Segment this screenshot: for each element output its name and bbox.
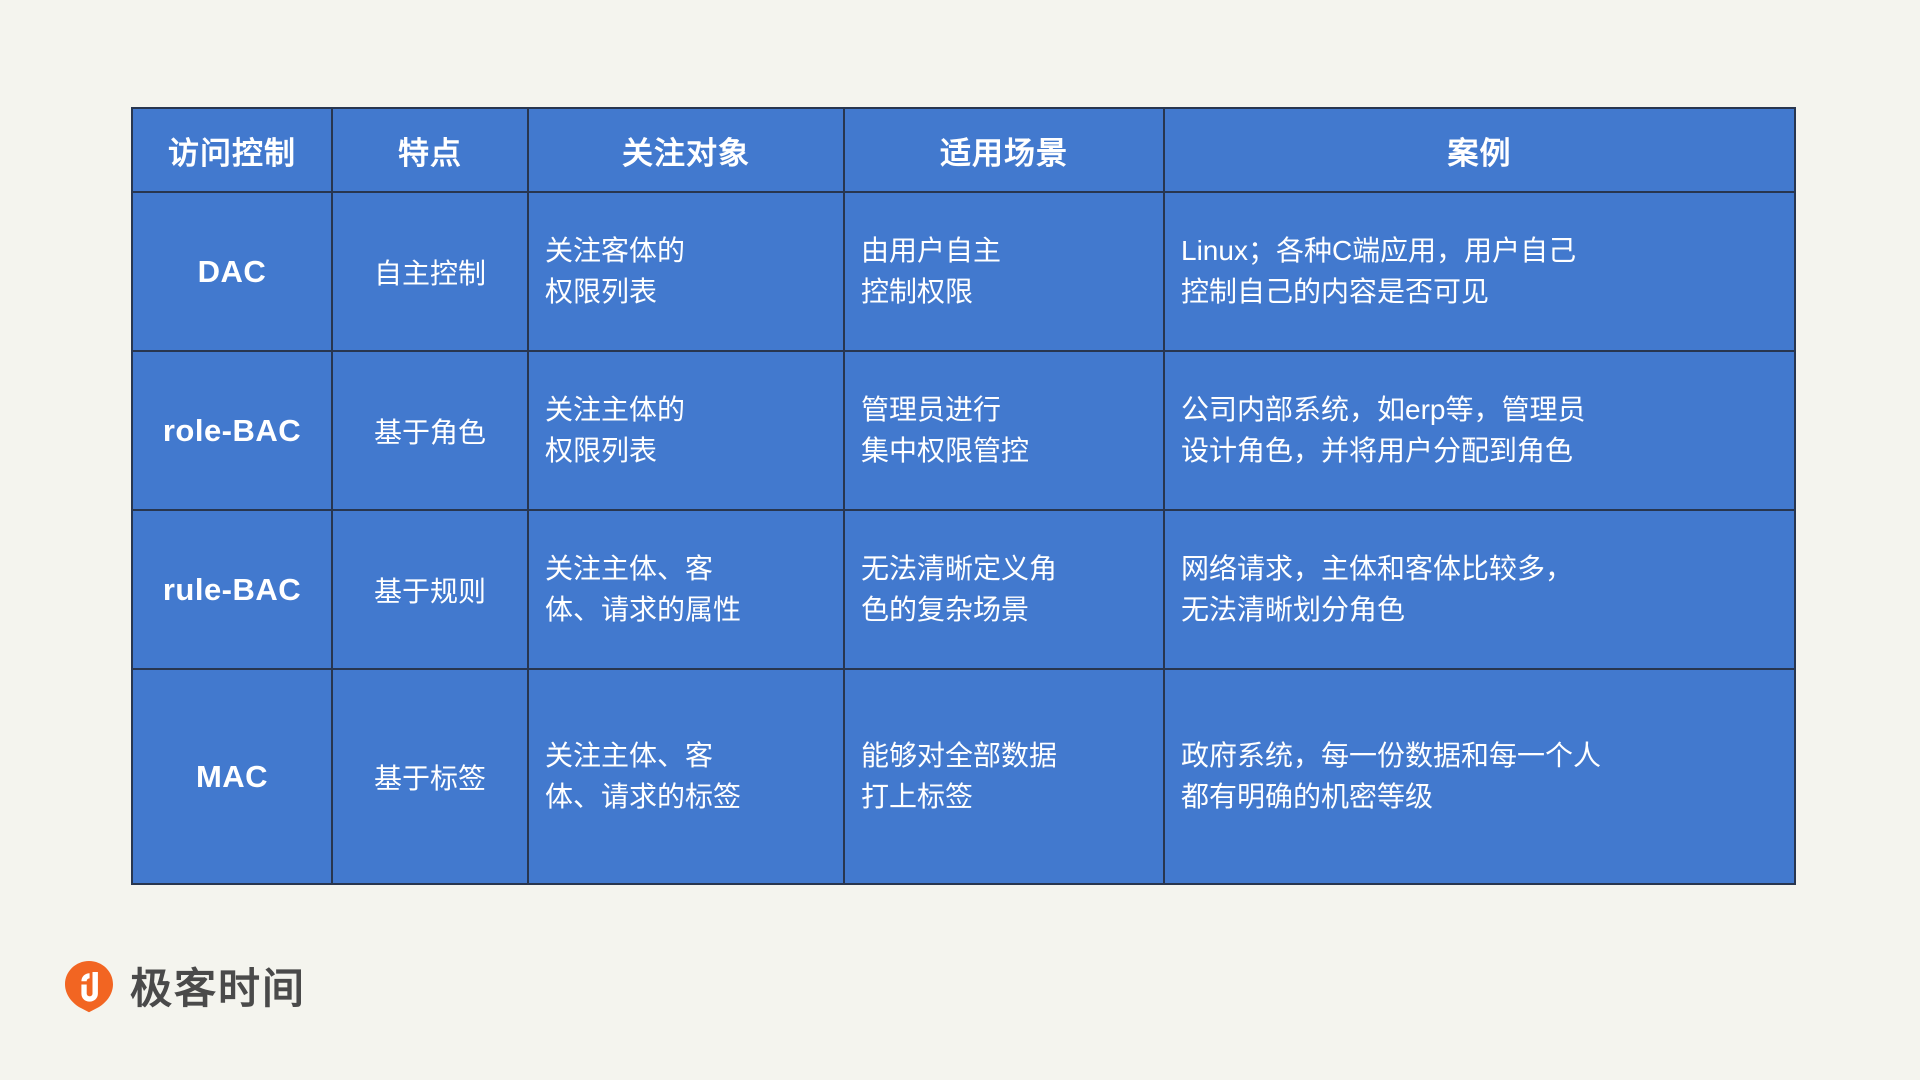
column-header-case: 案例 [1164,108,1795,192]
cell-line: 权限列表 [545,272,827,313]
column-header-target: 关注对象 [528,108,844,192]
brand-logo: 极客时间 [62,955,306,1016]
cell-line: 关注主体、客 [545,736,827,777]
cell-line: 控制自己的内容是否可见 [1181,272,1778,313]
cell-line: 能够对全部数据 [861,736,1147,777]
cell-line: 网络请求，主体和客体比较多， [1181,549,1778,590]
cell-line: 设计角色，并将用户分配到角色 [1181,431,1778,472]
cell-scene: 由用户自主 控制权限 [844,192,1164,351]
cell-line: 打上标签 [861,777,1147,818]
cell-case: 公司内部系统，如erp等，管理员 设计角色，并将用户分配到角色 [1164,351,1795,510]
table-header-row: 访问控制 特点 关注对象 适用场景 案例 [132,108,1795,192]
column-header-access-control: 访问控制 [132,108,332,192]
access-control-table-wrap: 访问控制 特点 关注对象 适用场景 案例 DAC 自主控制 关注客体的 权限列表 [131,107,1794,885]
cell-line: 政府系统，每一份数据和每一个人 [1181,736,1778,777]
table-row: rule-BAC 基于规则 关注主体、客 体、请求的属性 无法清晰定义角 色的复… [132,510,1795,669]
column-header-feature: 特点 [332,108,528,192]
cell-line: 关注客体的 [545,231,827,272]
cell-target: 关注主体、客 体、请求的属性 [528,510,844,669]
cell-line: 关注主体的 [545,390,827,431]
cell-line: 都有明确的机密等级 [1181,777,1778,818]
cell-line: Linux；各种C端应用，用户自己 [1181,231,1778,272]
cell-line: 权限列表 [545,431,827,472]
table-body: DAC 自主控制 关注客体的 权限列表 由用户自主 控制权限 Linux；各种C… [132,192,1795,884]
cell-access-control: MAC [132,669,332,884]
cell-case: 网络请求，主体和客体比较多， 无法清晰划分角色 [1164,510,1795,669]
cell-feature: 基于角色 [332,351,528,510]
cell-line: 管理员进行 [861,390,1147,431]
cell-access-control: rule-BAC [132,510,332,669]
cell-line: 关注主体、客 [545,549,827,590]
cell-scene: 无法清晰定义角 色的复杂场景 [844,510,1164,669]
brand-logo-text: 极客时间 [130,955,306,1016]
cell-feature: 基于标签 [332,669,528,884]
cell-line: 体、请求的标签 [545,777,827,818]
cell-access-control: role-BAC [132,351,332,510]
page-root: 访问控制 特点 关注对象 适用场景 案例 DAC 自主控制 关注客体的 权限列表 [0,0,1920,1080]
cell-case: Linux；各种C端应用，用户自己 控制自己的内容是否可见 [1164,192,1795,351]
cell-access-control: DAC [132,192,332,351]
cell-feature: 基于规则 [332,510,528,669]
cell-line: 由用户自主 [861,231,1147,272]
cell-line: 控制权限 [861,272,1147,313]
table-row: role-BAC 基于角色 关注主体的 权限列表 管理员进行 集中权限管控 公司… [132,351,1795,510]
cell-case: 政府系统，每一份数据和每一个人 都有明确的机密等级 [1164,669,1795,884]
cell-line: 体、请求的属性 [545,590,827,631]
table-row: MAC 基于标签 关注主体、客 体、请求的标签 能够对全部数据 打上标签 政府系… [132,669,1795,884]
cell-line: 色的复杂场景 [861,590,1147,631]
cell-line: 公司内部系统，如erp等，管理员 [1181,390,1778,431]
cell-target: 关注主体、客 体、请求的标签 [528,669,844,884]
cell-scene: 管理员进行 集中权限管控 [844,351,1164,510]
cell-target: 关注主体的 权限列表 [528,351,844,510]
table-header: 访问控制 特点 关注对象 适用场景 案例 [132,108,1795,192]
cell-line: 无法清晰划分角色 [1181,590,1778,631]
cell-feature: 自主控制 [332,192,528,351]
access-control-table: 访问控制 特点 关注对象 适用场景 案例 DAC 自主控制 关注客体的 权限列表 [131,107,1796,885]
cell-line: 无法清晰定义角 [861,549,1147,590]
column-header-scene: 适用场景 [844,108,1164,192]
cell-target: 关注客体的 权限列表 [528,192,844,351]
geektime-logo-icon [62,959,116,1013]
cell-scene: 能够对全部数据 打上标签 [844,669,1164,884]
table-row: DAC 自主控制 关注客体的 权限列表 由用户自主 控制权限 Linux；各种C… [132,192,1795,351]
cell-line: 集中权限管控 [861,431,1147,472]
